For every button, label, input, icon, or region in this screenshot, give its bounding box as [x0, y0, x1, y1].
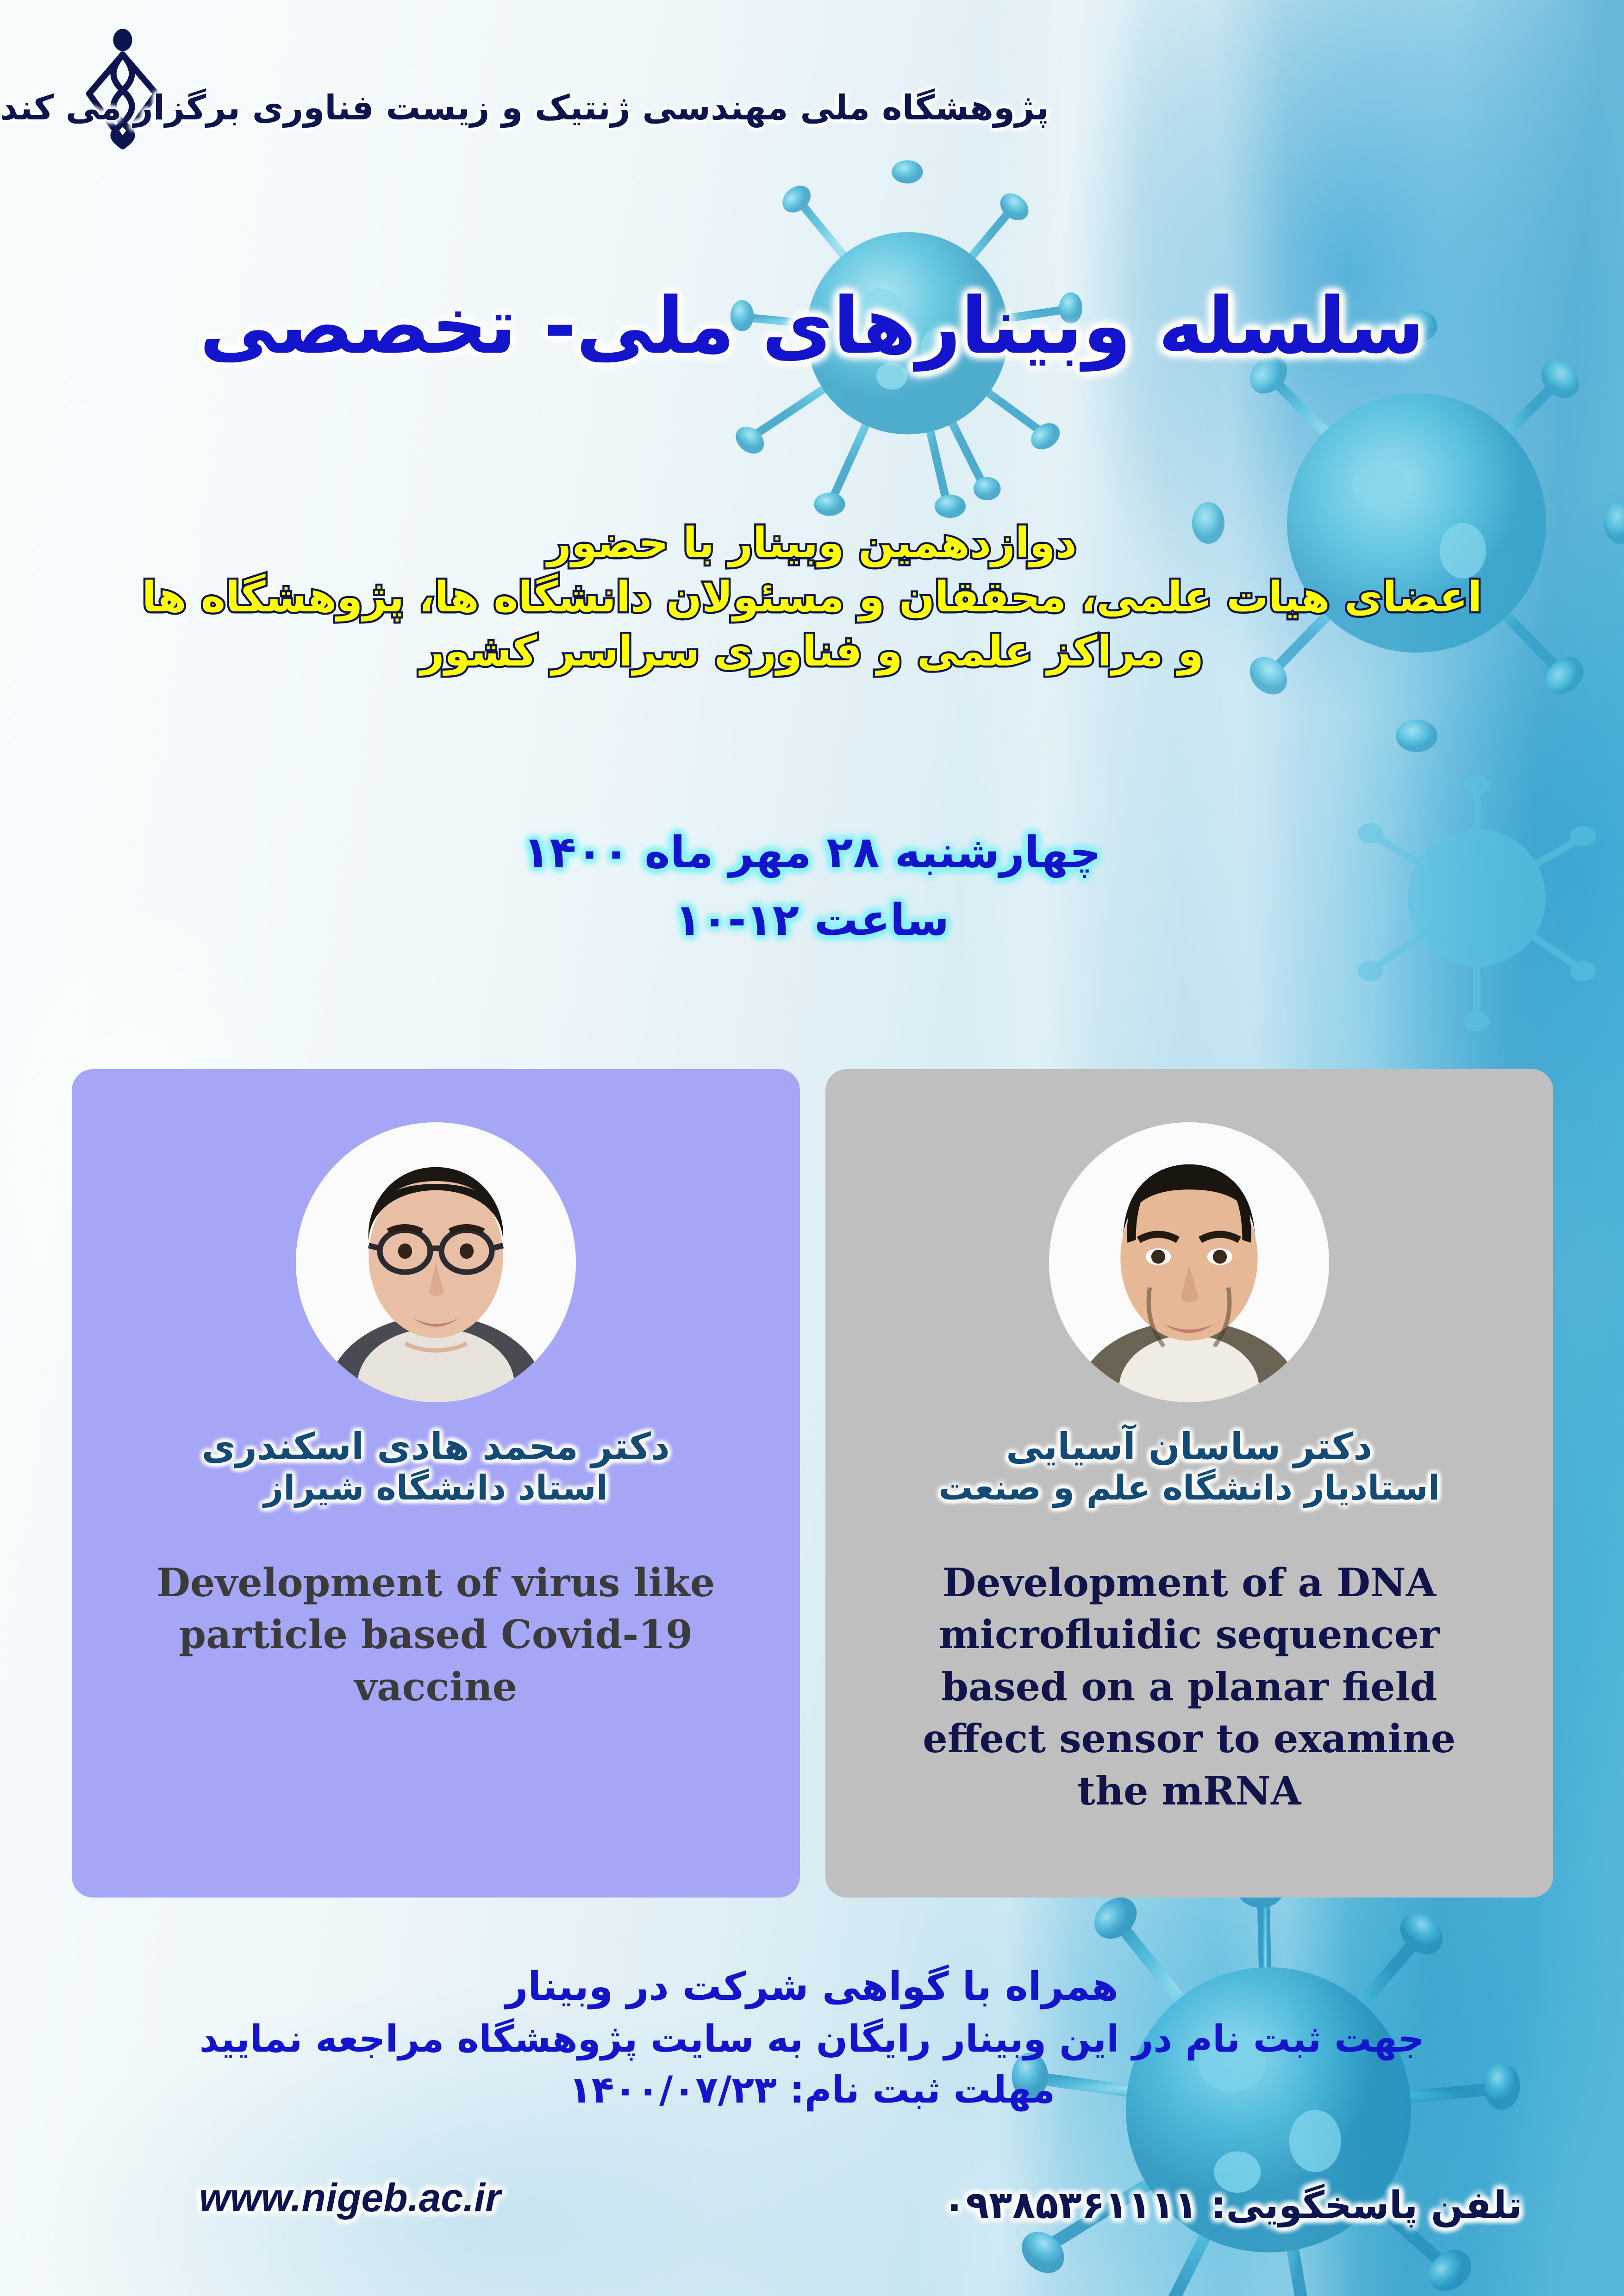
poster-root: پژوهشگاه ملی مهندسی ژنتیک و زیست فناوری …	[0, 0, 1624, 2296]
talk-title: Development of a DNA microfluidic sequen…	[881, 1557, 1497, 1817]
poster-header: پژوهشگاه ملی مهندسی ژنتیک و زیست فناوری …	[0, 0, 1624, 185]
subtitle-line-2: اعضای هیات علمی، محققان و مسئولان دانشگا…	[0, 570, 1624, 624]
speaker-identity: دکتر محمد هادی اسکندری استاد دانشگاه شیر…	[202, 1425, 670, 1508]
registration-block: همراه با گواهی شرکت در وبینار جهت ثبت نا…	[0, 1960, 1624, 2116]
subtitle-line-3: و مراکز علمی و فناوری سراسر کشور	[0, 624, 1624, 678]
speaker-affiliation: استاد دانشگاه شیراز	[202, 1468, 670, 1508]
registration-line-2: جهت ثبت نام در این وبینار رایگان به سایت…	[0, 2014, 1624, 2065]
subtitle-line-1: دوازدهمین وبینار با حضور	[0, 516, 1624, 570]
speaker-cards: دکتر محمد هادی اسکندری استاد دانشگاه شیر…	[72, 1069, 1553, 1898]
talk-title: Development of virus like particle based…	[128, 1557, 743, 1713]
event-time: ساعت ۱۲-۱۰	[0, 887, 1624, 954]
speaker-card-asiaei: دکتر ساسان آسیایی استادیار دانشگاه علم و…	[825, 1069, 1554, 1898]
website-link[interactable]: www.nigeb.ac.ir	[199, 2175, 501, 2221]
speaker-identity: دکتر ساسان آسیایی استادیار دانشگاه علم و…	[938, 1425, 1440, 1508]
avatar	[296, 1122, 576, 1402]
speaker-card-eskandari: دکتر محمد هادی اسکندری استاد دانشگاه شیر…	[72, 1069, 800, 1898]
poster-footer: www.nigeb.ac.ir تلفن پاسخگویی: ۰۹۳۸۵۳۶۱۱…	[0, 2171, 1624, 2254]
event-datetime: چهارشنبه ۲۸ مهر ماه ۱۴۰۰ ساعت ۱۲-۱۰	[0, 819, 1624, 954]
subtitle-block: دوازدهمین وبینار با حضور اعضای هیات علمی…	[0, 516, 1624, 678]
speaker-name: دکتر محمد هادی اسکندری	[202, 1425, 670, 1468]
speaker-photo-eskandari-icon	[296, 1122, 576, 1402]
speaker-photo-asiaei-icon	[1049, 1122, 1329, 1402]
registration-line-1: همراه با گواهی شرکت در وبینار	[0, 1960, 1624, 2014]
registration-deadline: مهلت ثبت نام: ۱۴۰۰/۰۷/۲۳	[0, 2065, 1624, 2116]
speaker-affiliation: استادیار دانشگاه علم و صنعت	[938, 1468, 1440, 1508]
contact-phone: تلفن پاسخگویی: ۰۹۳۸۵۳۶۱۱۱۱	[943, 2184, 1522, 2228]
page-title: سلسله وبینارهای ملی- تخصصی	[0, 287, 1624, 365]
event-date: چهارشنبه ۲۸ مهر ماه ۱۴۰۰	[0, 819, 1624, 887]
organizer-line: پژوهشگاه ملی مهندسی ژنتیک و زیست فناوری …	[0, 88, 1551, 128]
speaker-name: دکتر ساسان آسیایی	[938, 1425, 1440, 1468]
avatar	[1049, 1122, 1329, 1402]
